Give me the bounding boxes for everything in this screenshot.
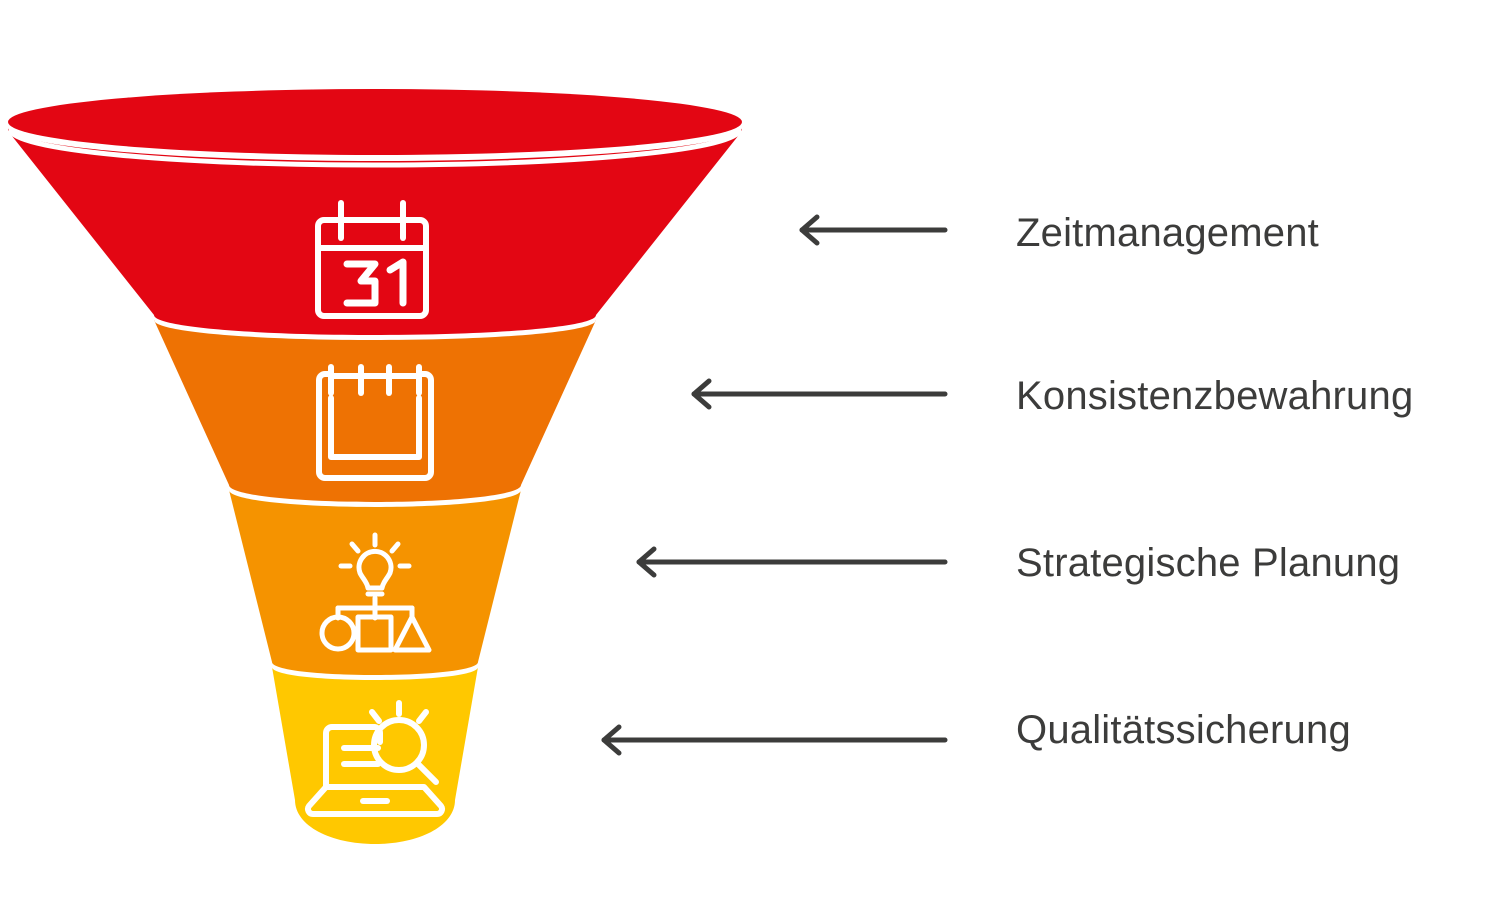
funnel-band-2 <box>154 320 596 502</box>
left-arrow-icon-2 <box>694 381 945 407</box>
stage-label-zeitmanagement: Zeitmanagement <box>1016 213 1319 253</box>
funnel-stage-3[interactable] <box>229 490 521 675</box>
left-arrow-icon-3 <box>639 549 945 575</box>
funnel-band-3 <box>229 490 521 675</box>
left-arrow-icon-1 <box>802 217 945 243</box>
funnel-graphic <box>0 0 1500 900</box>
stage-label-konsistenzbewahrung: Konsistenzbewahrung <box>1016 376 1413 416</box>
funnel-top-rim <box>8 89 742 155</box>
funnel-stage-2[interactable] <box>154 320 596 502</box>
stage-label-strategische-planung: Strategische Planung <box>1016 543 1400 583</box>
funnel-diagram-canvas: Zeitmanagement Konsistenzbewahrung Strat… <box>0 0 1500 900</box>
stage-label-qualitaetssicherung: Qualitätssicherung <box>1016 710 1351 750</box>
left-arrow-icon-4 <box>604 727 945 753</box>
